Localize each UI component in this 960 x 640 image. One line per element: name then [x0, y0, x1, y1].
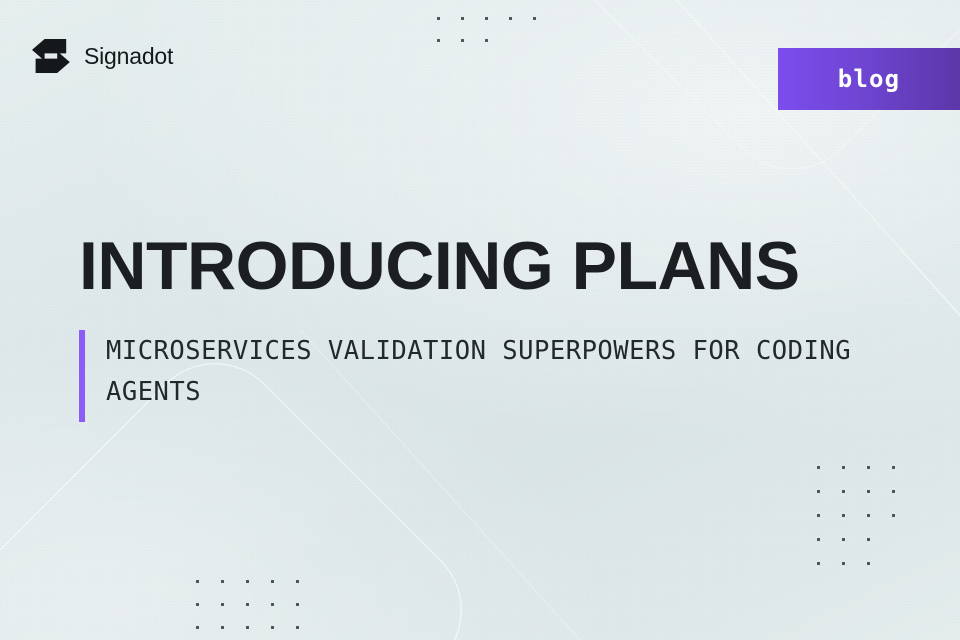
- signadot-s-arrow-icon: [30, 36, 72, 76]
- dot-grid-bottom-left: [196, 580, 321, 640]
- brand-logo[interactable]: Signadot: [30, 36, 173, 76]
- subheadline-block: MICROSERVICES VALIDATION SUPERPOWERS FOR…: [79, 330, 906, 422]
- blog-badge[interactable]: blog: [778, 48, 960, 110]
- dot-grid-bottom-right: [817, 466, 917, 586]
- brand-wordmark: Signadot: [84, 45, 173, 68]
- headline-block: INTRODUCING PLANS: [79, 232, 919, 300]
- blog-badge-label: blog: [838, 67, 901, 91]
- accent-bar: [79, 330, 85, 422]
- hero-banner: Signadot blog INTRODUCING PLANS MICROSER…: [0, 0, 960, 640]
- dot-grid-top: [437, 17, 557, 61]
- page-title: INTRODUCING PLANS: [79, 232, 919, 300]
- page-subtitle: MICROSERVICES VALIDATION SUPERPOWERS FOR…: [106, 330, 906, 422]
